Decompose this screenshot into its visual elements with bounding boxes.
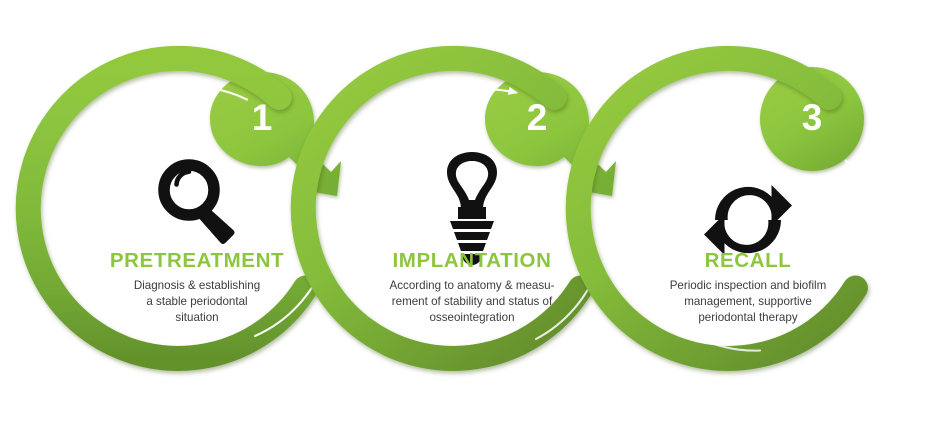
- recycle-arrows-icon: [704, 185, 792, 255]
- magnifier-icon: [164, 165, 232, 241]
- process-infographic: PRETREATMENT Diagnosis & establishing a …: [0, 0, 940, 425]
- dental-implant-icon: [447, 152, 497, 265]
- infographic-canvas: [0, 0, 940, 425]
- stage-3-group: [578, 58, 878, 358]
- stage-3-flow-arrow: [846, 161, 878, 268]
